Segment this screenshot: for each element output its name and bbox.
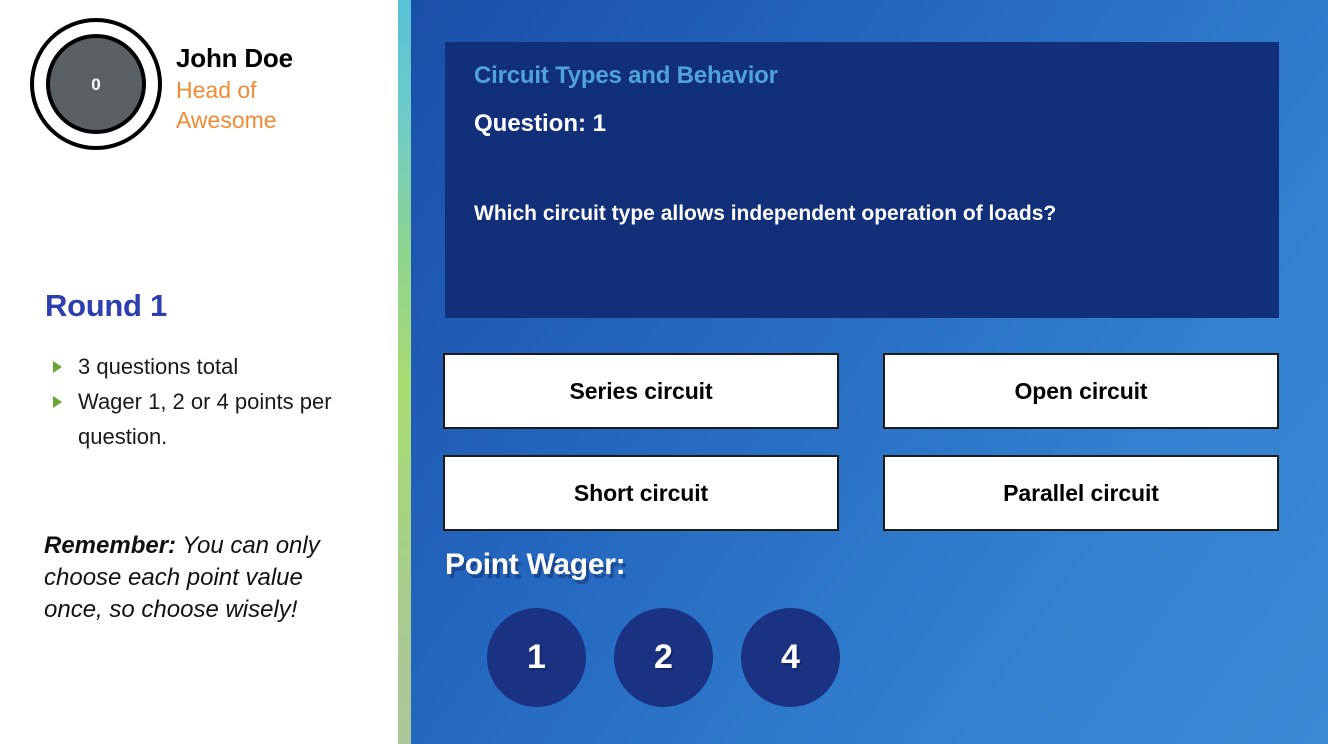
list-item: 3 questions total — [45, 350, 375, 385]
quiz-panel: Circuit Types and Behavior Question: 1 W… — [411, 0, 1328, 744]
player-score: 0 — [91, 76, 100, 93]
question-category: Circuit Types and Behavior — [474, 62, 778, 90]
wager-option-4[interactable]: 4 — [741, 608, 840, 707]
answer-options: Series circuit Open circuit Short circui… — [443, 353, 1279, 531]
question-number: Question: 1 — [474, 110, 606, 138]
answer-option-2[interactable]: Open circuit — [883, 353, 1279, 429]
gradient-divider — [398, 0, 411, 744]
question-text: Which circuit type allows independent op… — [474, 200, 1251, 228]
quiz-slide: 0 John Doe Head of Awesome Round 1 3 que… — [0, 0, 1328, 744]
player-name: John Doe — [176, 44, 351, 73]
list-item-label: Wager 1, 2 or 4 points per question. — [78, 389, 332, 449]
answer-option-4[interactable]: Parallel circuit — [883, 455, 1279, 531]
triangle-bullet-icon — [53, 361, 62, 373]
round-rules-list: 3 questions total Wager 1, 2 or 4 points… — [45, 350, 375, 454]
wager-option-2[interactable]: 2 — [614, 608, 713, 707]
list-item-label: 3 questions total — [78, 354, 238, 379]
answer-option-3[interactable]: Short circuit — [443, 455, 839, 531]
avatar-inner-disc: 0 — [46, 34, 146, 134]
avatar: 0 — [30, 18, 162, 150]
wager-option-1[interactable]: 1 — [487, 608, 586, 707]
player-text: John Doe Head of Awesome — [176, 18, 351, 136]
round-heading: Round 1 — [45, 288, 167, 324]
list-item: Wager 1, 2 or 4 points per question. — [45, 385, 375, 455]
point-wager-label: Point Wager: — [445, 548, 625, 582]
question-card: Circuit Types and Behavior Question: 1 W… — [445, 42, 1279, 318]
player-block: 0 John Doe Head of Awesome — [30, 18, 351, 150]
triangle-bullet-icon — [53, 396, 62, 408]
remember-label: Remember: — [44, 532, 176, 559]
sidebar: 0 John Doe Head of Awesome Round 1 3 que… — [0, 0, 398, 744]
answer-option-1[interactable]: Series circuit — [443, 353, 839, 429]
player-title: Head of Awesome — [176, 75, 351, 136]
wager-options: 1 2 4 — [487, 608, 840, 707]
remember-note: Remember: You can only choose each point… — [44, 530, 344, 626]
